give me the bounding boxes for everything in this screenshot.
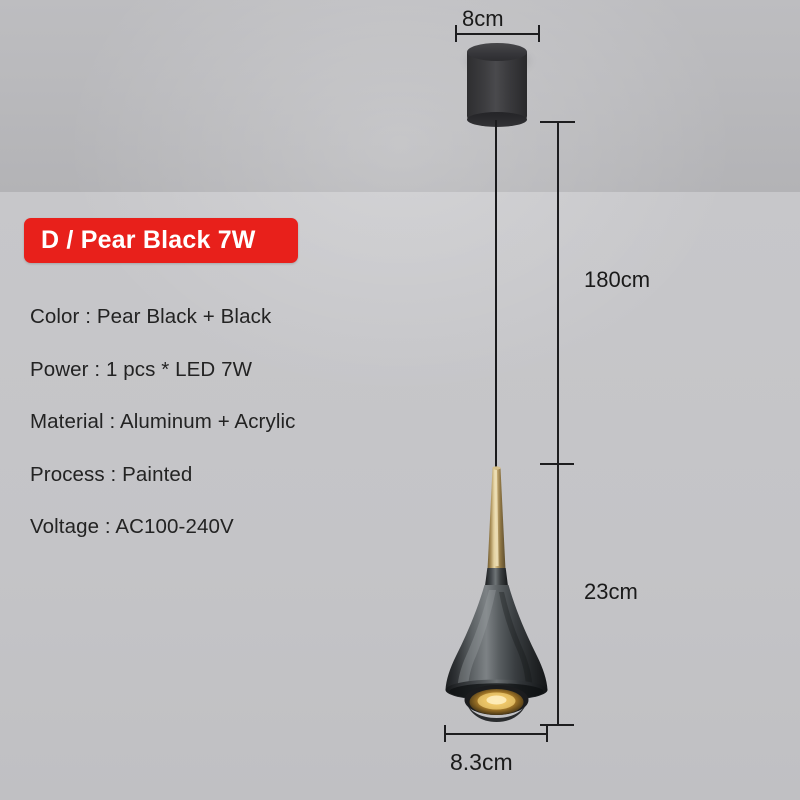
dimension-line-shade-diameter (444, 733, 548, 735)
spec-process: Process : Painted (30, 463, 430, 487)
spec-list: Color : Pear Black + Black Power : 1 pcs… (30, 305, 430, 568)
dimension-tick-top (540, 121, 575, 123)
product-spec-image: 8cm 180cm 23cm 8.3cm D / Pear Black 7W C… (0, 0, 800, 800)
variant-badge-label: D / Pear Black 7W (41, 226, 256, 255)
dimension-cap-left-canopy (455, 25, 457, 42)
ceiling-canopy-top (467, 43, 527, 61)
dimension-label-shade-diameter: 8.3cm (450, 749, 513, 776)
spec-material: Material : Aluminum + Acrylic (30, 410, 430, 434)
dimension-cap-right-canopy (538, 25, 540, 42)
dimension-cap-left-shade (444, 725, 446, 742)
dimension-tick-middle (540, 463, 574, 465)
spec-power: Power : 1 pcs * LED 7W (30, 358, 430, 382)
dimension-cap-right-shade (546, 725, 548, 742)
ceiling-canopy-bottom (467, 112, 527, 127)
spec-color: Color : Pear Black + Black (30, 305, 430, 329)
dimension-label-drop-length: 180cm (584, 267, 650, 293)
spec-voltage: Voltage : AC100-240V (30, 515, 430, 539)
ceiling-canopy-body (467, 52, 527, 121)
variant-badge: D / Pear Black 7W (24, 218, 298, 263)
dimension-label-shade-height: 23cm (584, 579, 638, 605)
dimension-line-canopy-diameter (455, 33, 540, 35)
dimension-line-vertical (557, 121, 559, 725)
suspension-cord (495, 120, 497, 470)
dimension-label-canopy-diameter: 8cm (462, 6, 504, 32)
